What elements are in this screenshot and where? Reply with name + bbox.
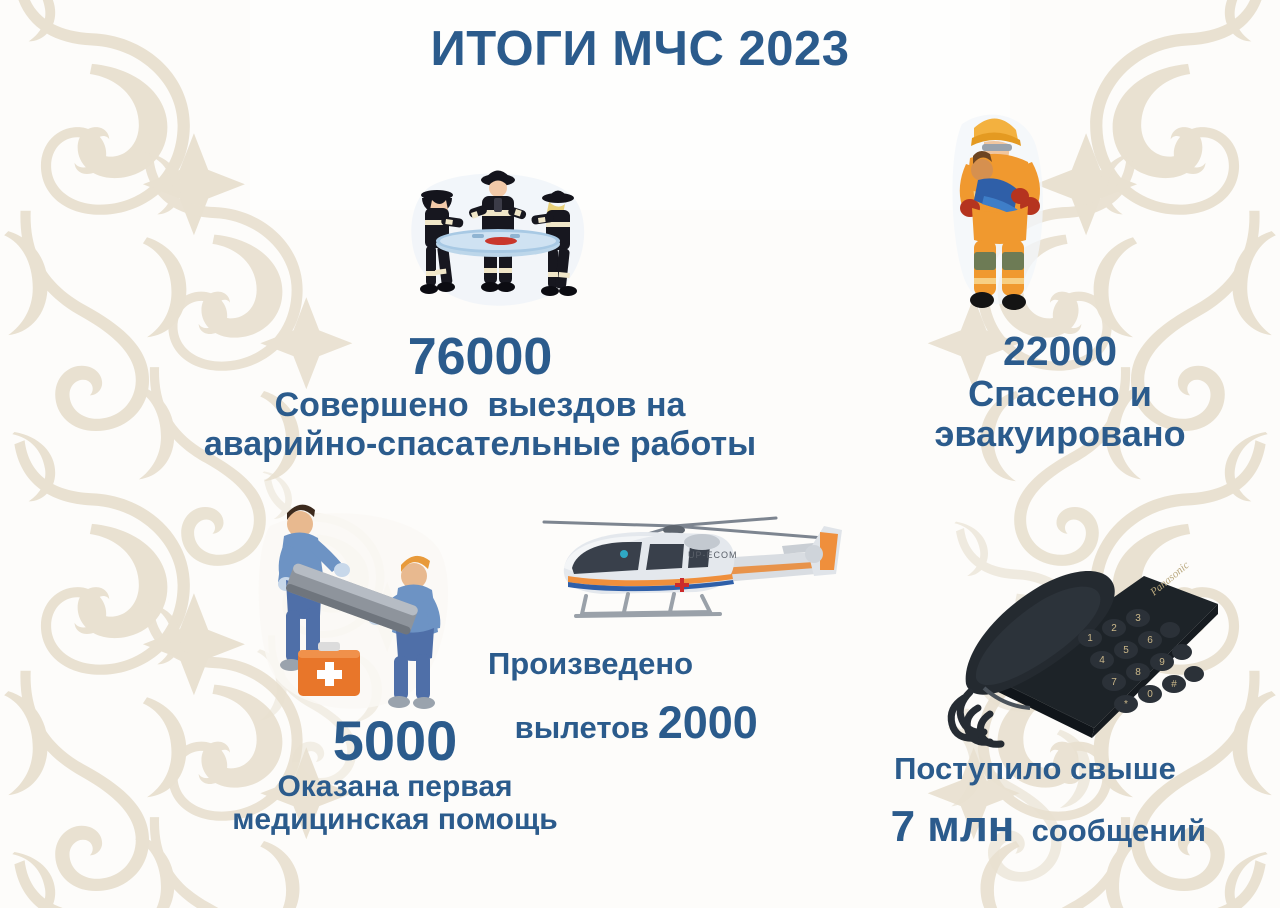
rescue-helicopter-illustration: UP-ECOM xyxy=(524,512,864,642)
firefighters-with-rescue-sheet-illustration xyxy=(398,158,598,313)
svg-text:2: 2 xyxy=(1111,623,1117,634)
stat-flights-label-2: вылетов xyxy=(515,710,658,745)
stat-block-rescued: 22000 Спасено и эвакуировано xyxy=(860,330,1260,453)
stat-messages-number: 7 млн xyxy=(891,802,1015,851)
stat-rescued-label-1: Спасено и xyxy=(860,375,1260,412)
svg-text:1: 1 xyxy=(1087,633,1093,644)
stat-messages-label-1: Поступило свыше xyxy=(810,753,1260,785)
rescuer-carrying-child-illustration xyxy=(940,100,1060,315)
svg-text:*: * xyxy=(1124,699,1128,710)
stat-calls-number: 76000 xyxy=(90,330,870,384)
desk-telephone-illustration: 123 456 789 *0# Panasonic xyxy=(918,552,1228,752)
svg-text:3: 3 xyxy=(1135,613,1141,624)
stat-calls-label-2: аварийно-спасательные работы xyxy=(90,427,870,462)
stat-block-calls: 76000 Совершено выездов на аварийно-спас… xyxy=(90,330,870,463)
svg-text:0: 0 xyxy=(1147,689,1153,700)
infographic-poster: ИТОГИ МЧС 2023 xyxy=(0,0,1280,908)
stat-block-flights: Произведено вылетов 2000 xyxy=(488,648,818,765)
stat-rescued-label-2: эвакуировано xyxy=(860,415,1260,452)
svg-text:9: 9 xyxy=(1159,657,1165,668)
stat-block-messages: Поступило свыше 7 млн сообщений xyxy=(810,753,1260,868)
page-title: ИТОГИ МЧС 2023 xyxy=(0,24,1280,75)
stat-first-aid-label-1: Оказана первая xyxy=(160,771,630,802)
svg-text:UP-ECOM: UP-ECOM xyxy=(688,550,738,560)
stat-flights-label-1: Произведено xyxy=(488,648,818,680)
stat-rescued-number: 22000 xyxy=(860,330,1260,373)
stat-flights-number: 2000 xyxy=(658,697,758,748)
paramedics-with-stretcher-illustration xyxy=(258,500,458,715)
svg-text:5: 5 xyxy=(1123,645,1129,656)
stat-messages-label-2: сообщений xyxy=(1014,813,1206,848)
stat-first-aid-label-2: медицинская помощь xyxy=(160,804,630,835)
svg-text:4: 4 xyxy=(1099,655,1105,666)
svg-text:8: 8 xyxy=(1135,667,1141,678)
svg-text:6: 6 xyxy=(1147,635,1153,646)
stat-calls-label-1: Совершено выездов на xyxy=(90,388,870,423)
svg-text:7: 7 xyxy=(1111,677,1117,688)
svg-text:#: # xyxy=(1171,679,1177,690)
svg-text:Panasonic: Panasonic xyxy=(1147,559,1191,599)
